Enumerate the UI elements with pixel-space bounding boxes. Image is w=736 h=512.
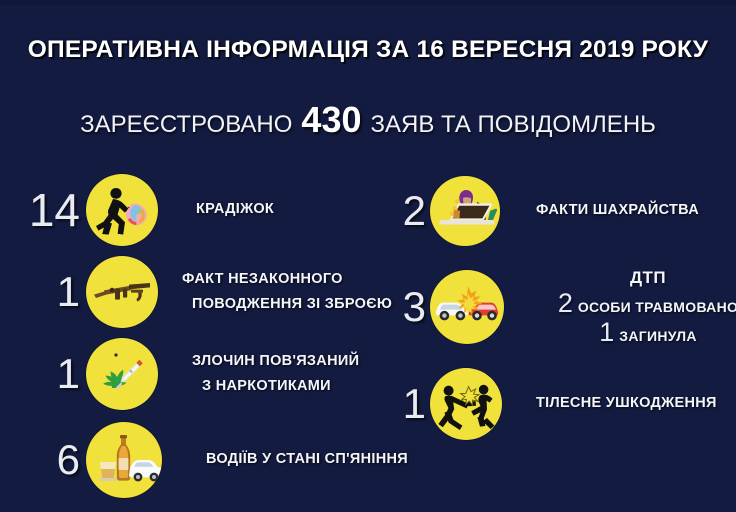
stat-count: 3 [382,286,426,328]
stat-count: 1 [14,271,80,313]
stat-label: ФАКТ НЕЗАКОННОГО ПОВОДЖЕННЯ ЗІ ЗБРОЄЮ [182,267,392,318]
laptop-fraud-icon [430,176,500,246]
stat-label-line1: КРАДІЖОК [196,201,274,217]
registered-summary: ЗАРЕЄСТРОВАНО 430 ЗАЯВ ТА ПОВІДОМЛЕНЬ [0,102,736,139]
stat-label-line2: З НАРКОТИКАМИ [192,374,359,399]
stat-label-line1: ФАКТИ ШАХРАЙСТВА [536,202,699,218]
dtp-title: ДТП [530,268,736,288]
drunk-driving-icon [86,422,162,498]
dtp-died-text: ЗАГИНУЛА [619,328,697,344]
dtp-injured-text: ОСОБИ ТРАВМОВАНО [578,299,736,315]
stat-count: 1 [14,353,80,395]
page-title: ОПЕРАТИВНА ІНФОРМАЦІЯ ЗА 16 ВЕРЕСНЯ 2019… [0,36,736,64]
stat-label-line1: ФАКТ НЕЗАКОННОГО [182,271,343,287]
stat-label: ЗЛОЧИН ПОВ'ЯЗАНИЙ З НАРКОТИКАМИ [192,349,359,400]
stat-row-bodily-harm: 1 [382,368,717,440]
stat-count: 6 [14,439,80,481]
stat-row-weapons: 1 ФАКТ НЕЗАКОННОГО ПОВОДЖЕННЯ ЗІ ЗБРОЄЮ [14,256,392,328]
stat-count: 1 [382,383,426,425]
dtp-text-block: ДТП 2 ОСОБИ ТРАВМОВАНО 1 ЗАГИНУЛА [530,268,736,346]
stat-row-road-accidents: 3 ДТП 2 ОСОБИ ТРАВМОВАНО [382,268,736,346]
summary-prefix: ЗАРЕЄСТРОВАНО [80,111,292,139]
dtp-injured-line: 2 ОСОБИ ТРАВМОВАНО [530,290,736,317]
stat-label-line2: ПОВОДЖЕННЯ ЗІ ЗБРОЄЮ [182,292,392,317]
stat-label: ТІЛЕСНЕ УШКОДЖЕННЯ [536,391,717,416]
stat-label-line1: ВОДІЇВ У СТАНІ СП'ЯНІННЯ [206,451,408,467]
stat-count: 14 [14,187,80,233]
top-edge-strip [0,0,736,5]
stat-label-line1: ЗЛОЧИН ПОВ'ЯЗАНИЙ [192,353,359,369]
dtp-injured-count: 2 [558,290,573,317]
dtp-died-line: 1 ЗАГИНУЛА [530,319,736,346]
dtp-died-count: 1 [599,319,614,346]
drugs-icon [86,338,158,410]
stat-label: ФАКТИ ШАХРАЙСТВА [536,198,699,223]
infographic-canvas: ОПЕРАТИВНА ІНФОРМАЦІЯ ЗА 16 ВЕРЕСНЯ 2019… [0,0,736,512]
thief-running-icon [86,174,158,246]
car-crash-icon [430,270,504,344]
stat-row-fraud: 2 ФАКТИ ШАХРАЙСТВА [382,176,699,246]
stat-label-line1: ТІЛЕСНЕ УШКОДЖЕННЯ [536,395,717,411]
stat-row-drugs: 1 [14,338,359,410]
summary-count: 430 [301,102,361,138]
rifle-icon [86,256,158,328]
summary-suffix: ЗАЯВ ТА ПОВІДОМЛЕНЬ [371,111,656,139]
stat-count: 2 [382,190,426,232]
stat-label: ВОДІЇВ У СТАНІ СП'ЯНІННЯ [206,447,408,472]
stat-row-thefts: 14 КРАДІЖОК [14,174,274,246]
stat-label: КРАДІЖОК [196,197,274,222]
assault-icon [430,368,502,440]
stat-row-drunk-drivers: 6 ВОДІЇВ У СТАНІ СП'ЯНІННЯ [14,422,408,498]
